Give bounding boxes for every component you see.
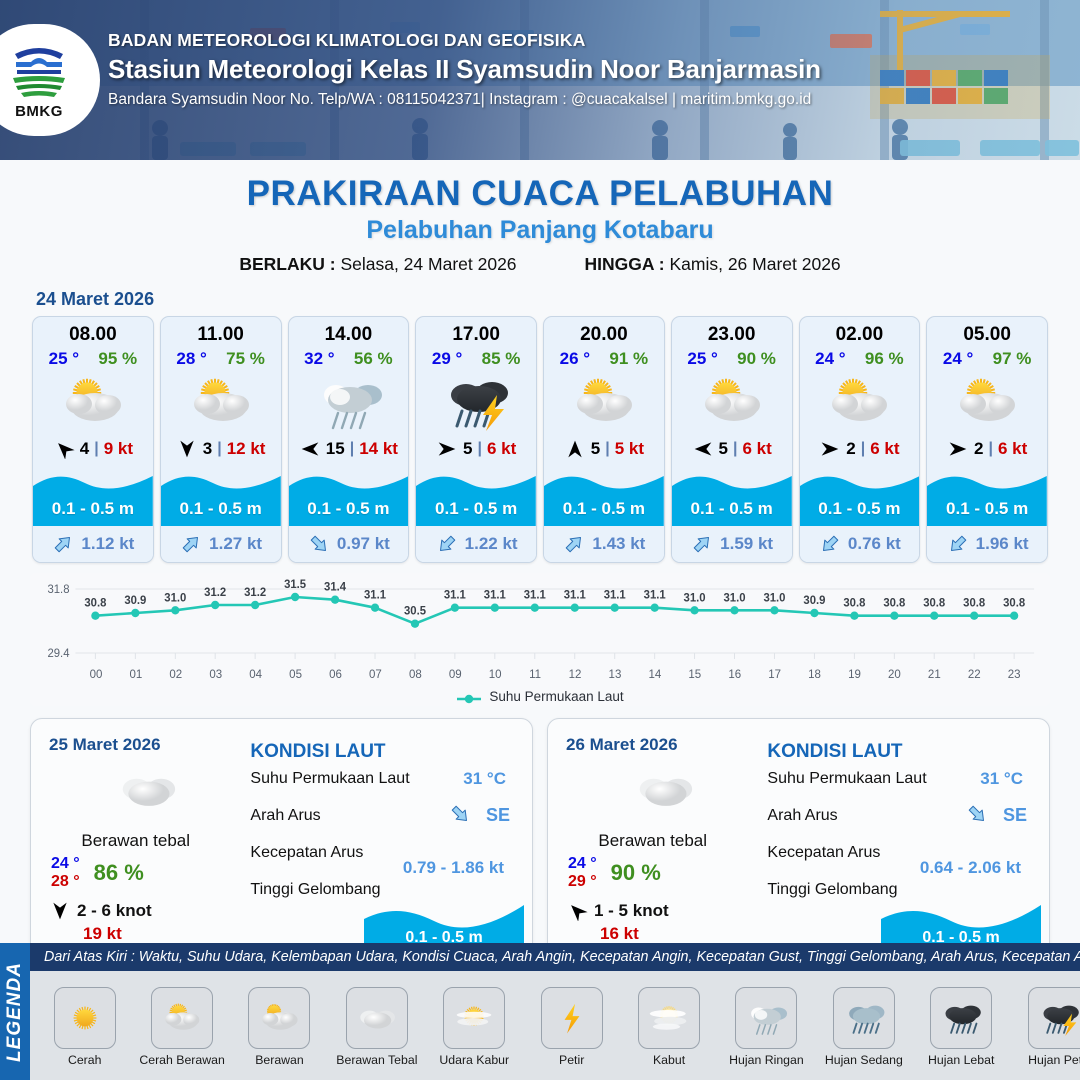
svg-text:31.1: 31.1 bbox=[364, 590, 387, 602]
wave-height-block: 0.1 - 0.5 m bbox=[672, 470, 792, 526]
wind-speed: 5 kt bbox=[615, 439, 644, 459]
current-row: 1.59 kt bbox=[672, 526, 792, 562]
forecast-card: 14.00 32 ° 56 % 15 | 14 kt 0.1 - 0.5 m bbox=[288, 316, 410, 563]
wind-direction-arrow-icon bbox=[566, 901, 588, 921]
forecast-card: 11.00 28 ° 75 % 3 | 12 kt 0.1 - 0.5 m bbox=[160, 316, 282, 563]
wind-direction-arrow-icon bbox=[176, 439, 198, 459]
wind-direction-arrow-icon bbox=[692, 439, 714, 459]
wind-direction-arrow-icon bbox=[564, 439, 586, 459]
chart-xtick: 15 bbox=[675, 669, 715, 681]
haze-icon bbox=[443, 987, 505, 1049]
temp-humidity-row: 25 ° 90 % bbox=[672, 346, 792, 369]
chart-xtick: 07 bbox=[355, 669, 395, 681]
station-name: Stasiun Meteorologi Kelas II Syamsudin N… bbox=[108, 54, 821, 85]
day-summary: 25 Maret 2026 Berawan tebal 24 ° 28 ° 86… bbox=[31, 719, 246, 967]
day-temperature-block: 24 ° 28 ° 86 % bbox=[49, 855, 246, 892]
wind-direction-arrow-icon bbox=[53, 439, 75, 459]
sea-conditions: KONDISI LAUT Suhu Permukaan Laut 31 °C A… bbox=[246, 719, 532, 967]
hingga-group: HINGGA : Kamis, 26 Maret 2026 bbox=[585, 254, 841, 275]
air-temperature: 25 ° bbox=[687, 349, 717, 369]
current-direction-arrow-icon bbox=[307, 533, 331, 555]
svg-text:30.9: 30.9 bbox=[803, 595, 825, 607]
temp-humidity-row: 24 ° 96 % bbox=[800, 346, 920, 369]
hingga-label: HINGGA : bbox=[585, 254, 665, 274]
current-direction-arrow-icon bbox=[690, 533, 714, 555]
legend-item-label: Berawan bbox=[255, 1053, 304, 1067]
legend-caption: Dari Atas Kiri : Waktu, Suhu Udara, Kele… bbox=[30, 943, 1080, 971]
page-subtitle: Pelabuhan Panjang Kotabaru bbox=[0, 216, 1080, 245]
day-temp-max: 28 ° bbox=[51, 873, 80, 891]
day-temperature-block: 24 ° 29 ° 90 % bbox=[566, 855, 763, 892]
current-row: 1.22 kt bbox=[416, 526, 536, 562]
wind-speed: 6 kt bbox=[870, 439, 899, 459]
svg-text:31.1: 31.1 bbox=[644, 590, 667, 602]
legend-side-label: LEGENDA bbox=[4, 962, 26, 1062]
svg-text:30.8: 30.8 bbox=[923, 598, 945, 610]
sea-direction-label: Arah Arus bbox=[250, 807, 320, 824]
svg-text:31.1: 31.1 bbox=[524, 590, 547, 602]
sea-direction-value: SE bbox=[486, 805, 510, 826]
bmkg-logo-text: BMKG bbox=[15, 103, 63, 120]
cloudy-icon bbox=[248, 987, 310, 1049]
current-speed: 1.43 kt bbox=[592, 534, 645, 554]
sst-chart-panel: 31.829.430.830.931.031.231.231.531.431.1… bbox=[30, 573, 1050, 706]
current-row: 1.96 kt bbox=[927, 526, 1047, 562]
current-row: 0.76 kt bbox=[800, 526, 920, 562]
current-direction-arrow-icon bbox=[562, 533, 586, 555]
air-temperature: 24 ° bbox=[815, 349, 845, 369]
moderate-rain-icon bbox=[833, 987, 895, 1049]
current-speed: 0.97 kt bbox=[337, 534, 390, 554]
wind-row: 4 | 9 kt bbox=[33, 435, 153, 463]
legend-section: LEGENDA Dari Atas Kiri : Waktu, Suhu Uda… bbox=[0, 943, 1080, 1080]
sea-direction-label: Arah Arus bbox=[767, 807, 837, 824]
current-direction-arrow-icon bbox=[946, 533, 970, 555]
heavy-rain-icon bbox=[930, 987, 992, 1049]
chart-xtick: 03 bbox=[196, 669, 236, 681]
wave-height-block: 0.1 - 0.5 m bbox=[927, 470, 1047, 526]
current-direction-arrow-icon bbox=[965, 803, 989, 825]
sea-direction-row: Arah Arus SE bbox=[250, 807, 514, 844]
wave-height-block: 0.1 - 0.5 m bbox=[161, 470, 281, 526]
legend-item: Hujan Petir bbox=[1010, 987, 1080, 1067]
current-direction-arrow-icon bbox=[307, 533, 331, 555]
sea-direction-value: SE bbox=[1003, 805, 1027, 826]
chart-xtick: 17 bbox=[755, 669, 795, 681]
light-rain-icon bbox=[289, 371, 409, 433]
current-row: 1.12 kt bbox=[33, 526, 153, 562]
chart-xtick: 02 bbox=[156, 669, 196, 681]
day-temp-max: 29 ° bbox=[568, 873, 597, 891]
air-temperature: 28 ° bbox=[176, 349, 206, 369]
forecast-time: 05.00 bbox=[927, 317, 1047, 346]
svg-text:30.9: 30.9 bbox=[124, 595, 146, 607]
svg-text:31.4: 31.4 bbox=[324, 582, 347, 594]
sea-speed-value: 0.64 - 2.06 kt bbox=[920, 858, 1021, 878]
chart-xtick: 12 bbox=[555, 669, 595, 681]
svg-text:31.2: 31.2 bbox=[244, 587, 266, 599]
hingga-value: Kamis, 26 Maret 2026 bbox=[669, 254, 840, 274]
chart-xtick: 06 bbox=[316, 669, 356, 681]
wind-separator: | bbox=[217, 440, 221, 458]
wave-height-value: 0.1 - 0.5 m bbox=[161, 499, 281, 519]
bmkg-emblem-icon bbox=[7, 40, 71, 102]
wind-direction-value: 5 bbox=[591, 439, 600, 459]
humidity: 96 % bbox=[865, 349, 904, 369]
forecast-card: 02.00 24 ° 96 % 2 | 6 kt 0.1 - 0.5 m bbox=[799, 316, 921, 563]
forecast-time: 02.00 bbox=[800, 317, 920, 346]
forecast-time: 14.00 bbox=[289, 317, 409, 346]
day-gust: 19 kt bbox=[49, 924, 246, 944]
sea-sst-label: Suhu Permukaan Laut bbox=[250, 770, 409, 787]
wave-height-value: 0.1 - 0.5 m bbox=[927, 499, 1047, 519]
forecast-time: 17.00 bbox=[416, 317, 536, 346]
forecast-time: 23.00 bbox=[672, 317, 792, 346]
lightning-icon bbox=[541, 987, 603, 1049]
sst-chart-xaxis: 0001020304050607080910111213141516171819… bbox=[38, 669, 1042, 681]
svg-text:31.1: 31.1 bbox=[564, 590, 587, 602]
sea-sst-value: 31 °C bbox=[980, 769, 1023, 789]
wind-direction-value: 3 bbox=[203, 439, 212, 459]
wind-row: 5 | 6 kt bbox=[672, 435, 792, 463]
wave-height-block: 0.1 - 0.5 m bbox=[416, 470, 536, 526]
wind-separator: | bbox=[94, 440, 98, 458]
daily-forecast-panels: 25 Maret 2026 Berawan tebal 24 ° 28 ° 86… bbox=[0, 706, 1080, 968]
svg-text:31.0: 31.0 bbox=[164, 592, 186, 604]
day-wind-range: 1 - 5 knot bbox=[594, 901, 669, 921]
chart-xtick: 09 bbox=[435, 669, 475, 681]
wind-direction-arrow-icon bbox=[53, 439, 75, 459]
legend-items: Cerah Cerah Berawan Berawan Berawan Teba… bbox=[30, 971, 1080, 1080]
wave-height-value: 0.1 - 0.5 m bbox=[289, 499, 409, 519]
chart-xtick: 11 bbox=[515, 669, 555, 681]
legend-side-bar: LEGENDA bbox=[0, 943, 30, 1080]
current-direction-arrow-icon bbox=[818, 533, 842, 555]
sst-line-chart: 31.829.430.830.931.031.231.231.531.431.1… bbox=[38, 579, 1042, 667]
legend-item-label: Cerah Berawan bbox=[139, 1053, 224, 1067]
wind-direction-arrow-icon bbox=[947, 439, 969, 459]
humidity: 97 % bbox=[993, 349, 1032, 369]
temp-humidity-row: 24 ° 97 % bbox=[927, 346, 1047, 369]
wave-height-block: 0.1 - 0.5 m bbox=[33, 470, 153, 526]
svg-text:31.0: 31.0 bbox=[723, 592, 745, 604]
svg-text:30.8: 30.8 bbox=[883, 598, 905, 610]
day-temp-min: 24 ° bbox=[51, 855, 80, 873]
legend-item-label: Udara Kabur bbox=[439, 1053, 509, 1067]
day-condition: Berawan tebal bbox=[566, 831, 763, 851]
chart-xtick: 21 bbox=[914, 669, 954, 681]
current-speed: 1.96 kt bbox=[976, 534, 1029, 554]
wind-speed: 9 kt bbox=[104, 439, 133, 459]
chart-xtick: 10 bbox=[475, 669, 515, 681]
wind-direction-value: 2 bbox=[846, 439, 855, 459]
sea-speed-label: Kecepatan Arus bbox=[250, 844, 363, 861]
current-direction-arrow-icon bbox=[51, 533, 75, 555]
svg-text:30.8: 30.8 bbox=[963, 598, 985, 610]
wind-separator: | bbox=[605, 440, 609, 458]
light-rain-icon bbox=[735, 987, 797, 1049]
chart-xtick: 19 bbox=[835, 669, 875, 681]
current-speed: 1.22 kt bbox=[465, 534, 518, 554]
daily-forecast-panel: 25 Maret 2026 Berawan tebal 24 ° 28 ° 86… bbox=[30, 718, 533, 968]
temp-humidity-row: 32 ° 56 % bbox=[289, 346, 409, 369]
legend-item: Berawan Tebal bbox=[328, 987, 425, 1067]
wave-height-value: 0.1 - 0.5 m bbox=[544, 499, 664, 519]
svg-text:31.1: 31.1 bbox=[604, 590, 627, 602]
current-direction-arrow-icon bbox=[435, 533, 459, 555]
overcast-icon bbox=[346, 987, 408, 1049]
current-direction-arrow-icon bbox=[690, 533, 714, 555]
legend-main: Dari Atas Kiri : Waktu, Suhu Udara, Kele… bbox=[30, 943, 1080, 1080]
wind-direction-arrow-icon bbox=[299, 439, 321, 459]
current-row: 1.27 kt bbox=[161, 526, 281, 562]
overcast-icon bbox=[566, 759, 763, 821]
chart-xtick: 05 bbox=[276, 669, 316, 681]
current-direction-arrow-icon bbox=[448, 803, 472, 825]
svg-text:31.0: 31.0 bbox=[763, 592, 785, 604]
day-temp-column: 24 ° 29 ° bbox=[568, 855, 597, 892]
legend-item: Petir bbox=[523, 987, 620, 1067]
wind-row: 2 | 6 kt bbox=[800, 435, 920, 463]
day-wind-row: 2 - 6 knot bbox=[49, 901, 246, 921]
day-date: 26 Maret 2026 bbox=[566, 735, 763, 755]
wind-separator: | bbox=[733, 440, 737, 458]
wind-direction-arrow-icon bbox=[299, 439, 321, 459]
current-speed: 1.27 kt bbox=[209, 534, 262, 554]
page-title: PRAKIRAAN CUACA PELABUHAN bbox=[0, 174, 1080, 214]
wind-speed: 6 kt bbox=[487, 439, 516, 459]
fog-icon bbox=[638, 987, 700, 1049]
sst-chart-legend: Suhu Permukaan Laut bbox=[30, 689, 1050, 704]
sea-speed-value: 0.79 - 1.86 kt bbox=[403, 858, 504, 878]
day-humidity: 86 % bbox=[94, 860, 144, 886]
wind-direction-arrow-icon bbox=[819, 439, 841, 459]
humidity: 95 % bbox=[98, 349, 137, 369]
validity-row: BERLAKU : Selasa, 24 Maret 2026 HINGGA :… bbox=[0, 254, 1080, 275]
sea-conditions-title: KONDISI LAUT bbox=[767, 741, 1031, 763]
agency-name: BADAN METEOROLOGI KLIMATOLOGI DAN GEOFIS… bbox=[108, 30, 821, 51]
svg-text:30.5: 30.5 bbox=[404, 606, 427, 618]
current-speed: 0.76 kt bbox=[848, 534, 901, 554]
temp-humidity-row: 28 ° 75 % bbox=[161, 346, 281, 369]
partly-cloudy-icon bbox=[33, 371, 153, 433]
legend-item: Udara Kabur bbox=[426, 987, 523, 1067]
temp-humidity-row: 25 ° 95 % bbox=[33, 346, 153, 369]
svg-text:31.0: 31.0 bbox=[684, 592, 706, 604]
partly-cloudy-icon bbox=[544, 371, 664, 433]
wave-height-value: 0.1 - 0.5 m bbox=[672, 499, 792, 519]
berlaku-group: BERLAKU : Selasa, 24 Maret 2026 bbox=[239, 254, 516, 275]
sea-speed-label: Kecepatan Arus bbox=[767, 844, 880, 861]
sea-sst-row: Suhu Permukaan Laut 31 °C bbox=[250, 770, 514, 807]
partly-cloudy-icon bbox=[161, 371, 281, 433]
chart-xtick: 08 bbox=[395, 669, 435, 681]
day-humidity: 90 % bbox=[611, 860, 661, 886]
wind-speed: 14 kt bbox=[359, 439, 398, 459]
chart-xtick: 13 bbox=[595, 669, 635, 681]
sea-sst-label: Suhu Permukaan Laut bbox=[767, 770, 926, 787]
chart-xtick: 22 bbox=[954, 669, 994, 681]
wind-direction-value: 2 bbox=[974, 439, 983, 459]
forecast-cards: 08.00 25 ° 95 % 4 | 9 kt 0.1 - 0.5 m bbox=[0, 316, 1080, 563]
wind-separator: | bbox=[988, 440, 992, 458]
current-direction-arrow-icon bbox=[179, 533, 203, 555]
chart-xtick: 14 bbox=[635, 669, 675, 681]
wind-direction-value: 15 bbox=[326, 439, 345, 459]
chart-xtick: 00 bbox=[76, 669, 116, 681]
page-header: BMKG BADAN METEOROLOGI KLIMATOLOGI DAN G… bbox=[0, 0, 1080, 160]
temp-humidity-row: 29 ° 85 % bbox=[416, 346, 536, 369]
day-temp-column: 24 ° 28 ° bbox=[51, 855, 80, 892]
current-direction-arrow-icon bbox=[818, 533, 842, 555]
sea-sst-row: Suhu Permukaan Laut 31 °C bbox=[767, 770, 1031, 807]
legend-item-label: Petir bbox=[559, 1053, 584, 1067]
legend-item-label: Hujan Ringan bbox=[729, 1053, 804, 1067]
wind-direction-value: 5 bbox=[463, 439, 472, 459]
chart-xtick: 01 bbox=[116, 669, 156, 681]
partly-cloudy-icon bbox=[927, 371, 1047, 433]
current-direction-arrow-icon bbox=[562, 533, 586, 555]
wave-height-value: 0.1 - 0.5 m bbox=[416, 499, 536, 519]
air-temperature: 25 ° bbox=[49, 349, 79, 369]
overcast-icon bbox=[49, 759, 246, 821]
svg-text:31.1: 31.1 bbox=[444, 590, 467, 602]
wind-direction-arrow-icon bbox=[436, 439, 458, 459]
current-direction-arrow-icon bbox=[51, 533, 75, 555]
humidity: 56 % bbox=[354, 349, 393, 369]
legend-item: Hujan Lebat bbox=[913, 987, 1010, 1067]
legend-marker-icon bbox=[456, 692, 482, 702]
wind-row: 2 | 6 kt bbox=[927, 435, 1047, 463]
forecast-card: 20.00 26 ° 91 % 5 | 5 kt 0.1 - 0.5 m bbox=[543, 316, 665, 563]
current-direction-arrow-icon bbox=[965, 803, 991, 829]
humidity: 91 % bbox=[609, 349, 648, 369]
forecast-card: 23.00 25 ° 90 % 5 | 6 kt 0.1 - 0.5 m bbox=[671, 316, 793, 563]
day-date: 25 Maret 2026 bbox=[49, 735, 246, 755]
chart-xtick: 16 bbox=[715, 669, 755, 681]
berlaku-label: BERLAKU : bbox=[239, 254, 335, 274]
current-direction-arrow-icon bbox=[448, 803, 474, 829]
wind-row: 3 | 12 kt bbox=[161, 435, 281, 463]
day-summary: 26 Maret 2026 Berawan tebal 24 ° 29 ° 90… bbox=[548, 719, 763, 967]
legend-item: Berawan bbox=[231, 987, 328, 1067]
day-gust: 16 kt bbox=[566, 924, 763, 944]
humidity: 90 % bbox=[737, 349, 776, 369]
wave-height-value: 0.1 - 0.5 m bbox=[33, 499, 153, 519]
svg-text:31.2: 31.2 bbox=[204, 587, 226, 599]
wind-speed: 6 kt bbox=[742, 439, 771, 459]
sun-icon bbox=[54, 987, 116, 1049]
humidity: 75 % bbox=[226, 349, 265, 369]
partly-cloudy-icon bbox=[800, 371, 920, 433]
wind-separator: | bbox=[350, 440, 354, 458]
svg-text:30.8: 30.8 bbox=[843, 598, 865, 610]
day-wind-row: 1 - 5 knot bbox=[566, 901, 763, 921]
wind-separator: | bbox=[861, 440, 865, 458]
legend-item-label: Cerah bbox=[68, 1053, 102, 1067]
air-temperature: 26 ° bbox=[560, 349, 590, 369]
legend-item-label: Kabut bbox=[653, 1053, 685, 1067]
sun-cloud-icon bbox=[151, 987, 213, 1049]
current-speed: 1.12 kt bbox=[81, 534, 134, 554]
wave-height-block: 0.1 - 0.5 m bbox=[544, 470, 664, 526]
forecast-card: 08.00 25 ° 95 % 4 | 9 kt 0.1 - 0.5 m bbox=[32, 316, 154, 563]
thunderstorm-rain-icon bbox=[1028, 987, 1080, 1049]
sea-direction-row: Arah Arus SE bbox=[767, 807, 1031, 844]
legend-item: Hujan Ringan bbox=[718, 987, 815, 1067]
chart-xtick: 23 bbox=[994, 669, 1034, 681]
sea-speed-row: Kecepatan Arus 0.79 - 1.86 kt bbox=[250, 844, 514, 881]
svg-text:29.4: 29.4 bbox=[47, 648, 70, 660]
sea-wave-label: Tinggi Gelombang bbox=[767, 881, 897, 898]
wind-row: 5 | 6 kt bbox=[416, 435, 536, 463]
sea-conditions-title: KONDISI LAUT bbox=[250, 741, 514, 763]
svg-text:30.8: 30.8 bbox=[1003, 598, 1025, 610]
sea-wave-label: Tinggi Gelombang bbox=[250, 881, 380, 898]
forecast-time: 08.00 bbox=[33, 317, 153, 346]
wind-direction-arrow-icon bbox=[436, 439, 458, 459]
current-row: 0.97 kt bbox=[289, 526, 409, 562]
wind-direction-arrow-icon bbox=[819, 439, 841, 459]
wind-direction-value: 5 bbox=[719, 439, 728, 459]
current-direction-arrow-icon bbox=[179, 533, 203, 555]
legend-item: Hujan Sedang bbox=[815, 987, 912, 1067]
chart-xtick: 20 bbox=[874, 669, 914, 681]
wind-direction-arrow-icon bbox=[566, 901, 588, 921]
wind-direction-arrow-icon bbox=[564, 439, 586, 459]
wind-direction-arrow-icon bbox=[49, 901, 71, 921]
current-row: 1.43 kt bbox=[544, 526, 664, 562]
forecast-date-label: 24 Maret 2026 bbox=[36, 289, 1080, 310]
wave-height-block: 0.1 - 0.5 m bbox=[289, 470, 409, 526]
svg-text:31.1: 31.1 bbox=[484, 590, 507, 602]
air-temperature: 29 ° bbox=[432, 349, 462, 369]
legend-item-label: Berawan Tebal bbox=[336, 1053, 417, 1067]
forecast-time: 11.00 bbox=[161, 317, 281, 346]
wave-height-value: 0.1 - 0.5 m bbox=[800, 499, 920, 519]
wave-height-block: 0.1 - 0.5 m bbox=[800, 470, 920, 526]
legend-item: Kabut bbox=[620, 987, 717, 1067]
wind-row: 15 | 14 kt bbox=[289, 435, 409, 463]
chart-xtick: 04 bbox=[236, 669, 276, 681]
day-condition: Berawan tebal bbox=[49, 831, 246, 851]
legend-item-label: Hujan Petir bbox=[1028, 1053, 1080, 1067]
legend-label-sst: Suhu Permukaan Laut bbox=[489, 689, 623, 704]
air-temperature: 32 ° bbox=[304, 349, 334, 369]
daily-forecast-panel: 26 Maret 2026 Berawan tebal 24 ° 29 ° 90… bbox=[547, 718, 1050, 968]
forecast-card: 05.00 24 ° 97 % 2 | 6 kt 0.1 - 0.5 m bbox=[926, 316, 1048, 563]
svg-text:31.8: 31.8 bbox=[47, 584, 69, 596]
wind-separator: | bbox=[477, 440, 481, 458]
current-direction-arrow-icon bbox=[435, 533, 459, 555]
wind-direction-value: 4 bbox=[80, 439, 89, 459]
wind-direction-arrow-icon bbox=[692, 439, 714, 459]
day-wind-range: 2 - 6 knot bbox=[77, 901, 152, 921]
wind-direction-arrow-icon bbox=[49, 901, 71, 921]
wind-row: 5 | 5 kt bbox=[544, 435, 664, 463]
chart-xtick: 18 bbox=[795, 669, 835, 681]
sea-sst-value: 31 °C bbox=[463, 769, 506, 789]
svg-text:30.8: 30.8 bbox=[84, 598, 106, 610]
legend-item-label: Hujan Sedang bbox=[825, 1053, 903, 1067]
temp-humidity-row: 26 ° 91 % bbox=[544, 346, 664, 369]
legend-item-label: Hujan Lebat bbox=[928, 1053, 994, 1067]
legend-item: Cerah bbox=[36, 987, 133, 1067]
title-section: PRAKIRAAN CUACA PELABUHAN Pelabuhan Panj… bbox=[0, 160, 1080, 275]
current-direction-arrow-icon bbox=[946, 533, 970, 555]
sea-conditions: KONDISI LAUT Suhu Permukaan Laut 31 °C A… bbox=[763, 719, 1049, 967]
wind-speed: 6 kt bbox=[998, 439, 1027, 459]
